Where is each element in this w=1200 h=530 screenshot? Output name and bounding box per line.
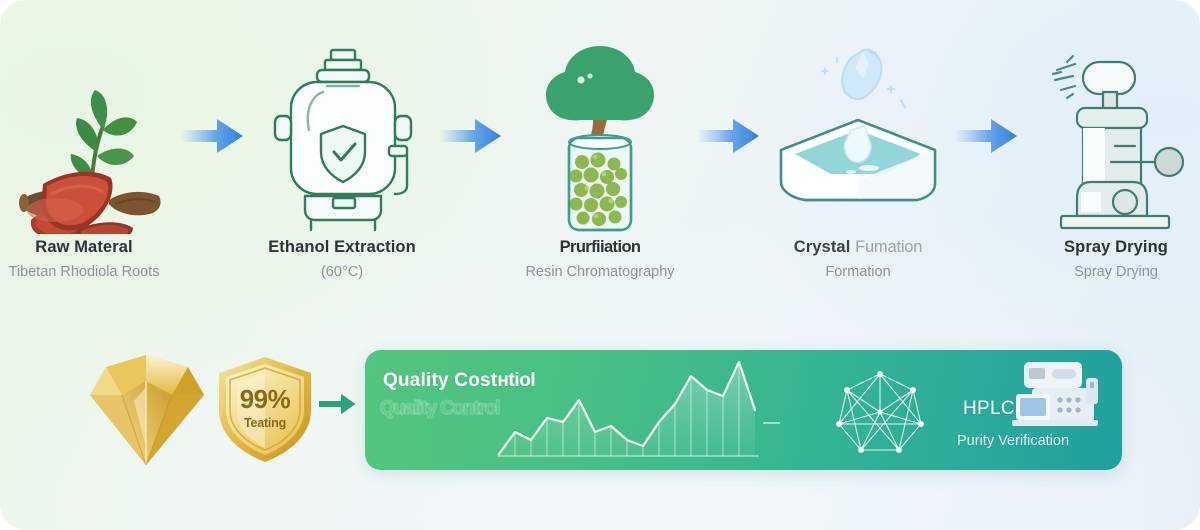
purity-percent: 99%	[213, 384, 317, 415]
quality-control-ghost-subtitle: Quality Control	[380, 398, 499, 420]
gold-shield-icon: 99% Teating	[213, 354, 317, 466]
process-step-title: Prurfiiation	[560, 238, 641, 257]
process-step-title-text: Prurfiiation	[560, 238, 641, 256]
arrow-right-icon	[693, 34, 765, 234]
process-step-title-main: Crystal	[794, 238, 851, 256]
rhodiola-roots-icon	[0, 34, 177, 234]
process-step-title: Crystal Fumation	[794, 238, 923, 257]
process-step-subtitle: Spray Drying	[1074, 264, 1158, 280]
gold-gem-icon	[84, 351, 209, 469]
hplc-sublabel: Purity Verification	[957, 433, 1069, 449]
extraction-tank-icon	[249, 34, 435, 234]
hplc-label: HPLC	[963, 398, 1015, 420]
process-step-ethanol-extraction[interactable]: Ethanol Extraction (60°C)	[249, 34, 435, 280]
process-step-subtitle: Resin Chromatography	[525, 264, 674, 280]
quality-control-strip: 99% Teating Quality Costнtiol Quality Co…	[0, 340, 1200, 480]
arrow-right-icon	[951, 34, 1023, 234]
process-step-title: Raw Materal	[35, 238, 132, 257]
qc-heading-main: Quality Cost	[383, 370, 497, 391]
purity-badge-label: Teating	[213, 416, 317, 430]
spray-dryer-icon	[1023, 34, 1200, 234]
arrow-right-icon	[177, 34, 249, 234]
process-step-crystal-formation[interactable]: Crystal Fumation Formation	[765, 34, 951, 280]
process-step-title: Spray Drying	[1064, 238, 1168, 257]
arrow-right-icon	[435, 34, 507, 234]
quality-control-banner: Quality Costнtiol Quality Control	[365, 350, 1122, 470]
process-step-purification[interactable]: Prurfiiation Resin Chromatography	[507, 34, 693, 280]
arrow-right-green-icon	[319, 390, 357, 430]
process-step-subtitle: Tibetan Rhodiola Roots	[9, 264, 160, 280]
process-step-subtitle: (60°C)	[321, 264, 363, 280]
process-step-spray-drying[interactable]: Spray Drying Spray Drying	[1023, 34, 1200, 280]
process-step-title-faded: Fumation	[855, 238, 922, 256]
divider-dash	[763, 422, 780, 424]
line-chart-icon	[495, 356, 761, 469]
resin-column-tree-icon	[507, 34, 693, 234]
process-step-subtitle: Formation	[825, 264, 890, 280]
process-infographic: Raw Materal Tibetan Rhodiola Roots	[0, 0, 1200, 530]
process-row: Raw Materal Tibetan Rhodiola Roots	[0, 34, 1200, 334]
crystallization-basin-icon	[765, 34, 951, 234]
network-node-icon	[825, 366, 935, 463]
process-step-title: Ethanol Extraction	[268, 238, 416, 257]
process-step-raw-material[interactable]: Raw Materal Tibetan Rhodiola Roots	[0, 34, 177, 280]
hplc-instrument-icon	[1010, 360, 1106, 439]
